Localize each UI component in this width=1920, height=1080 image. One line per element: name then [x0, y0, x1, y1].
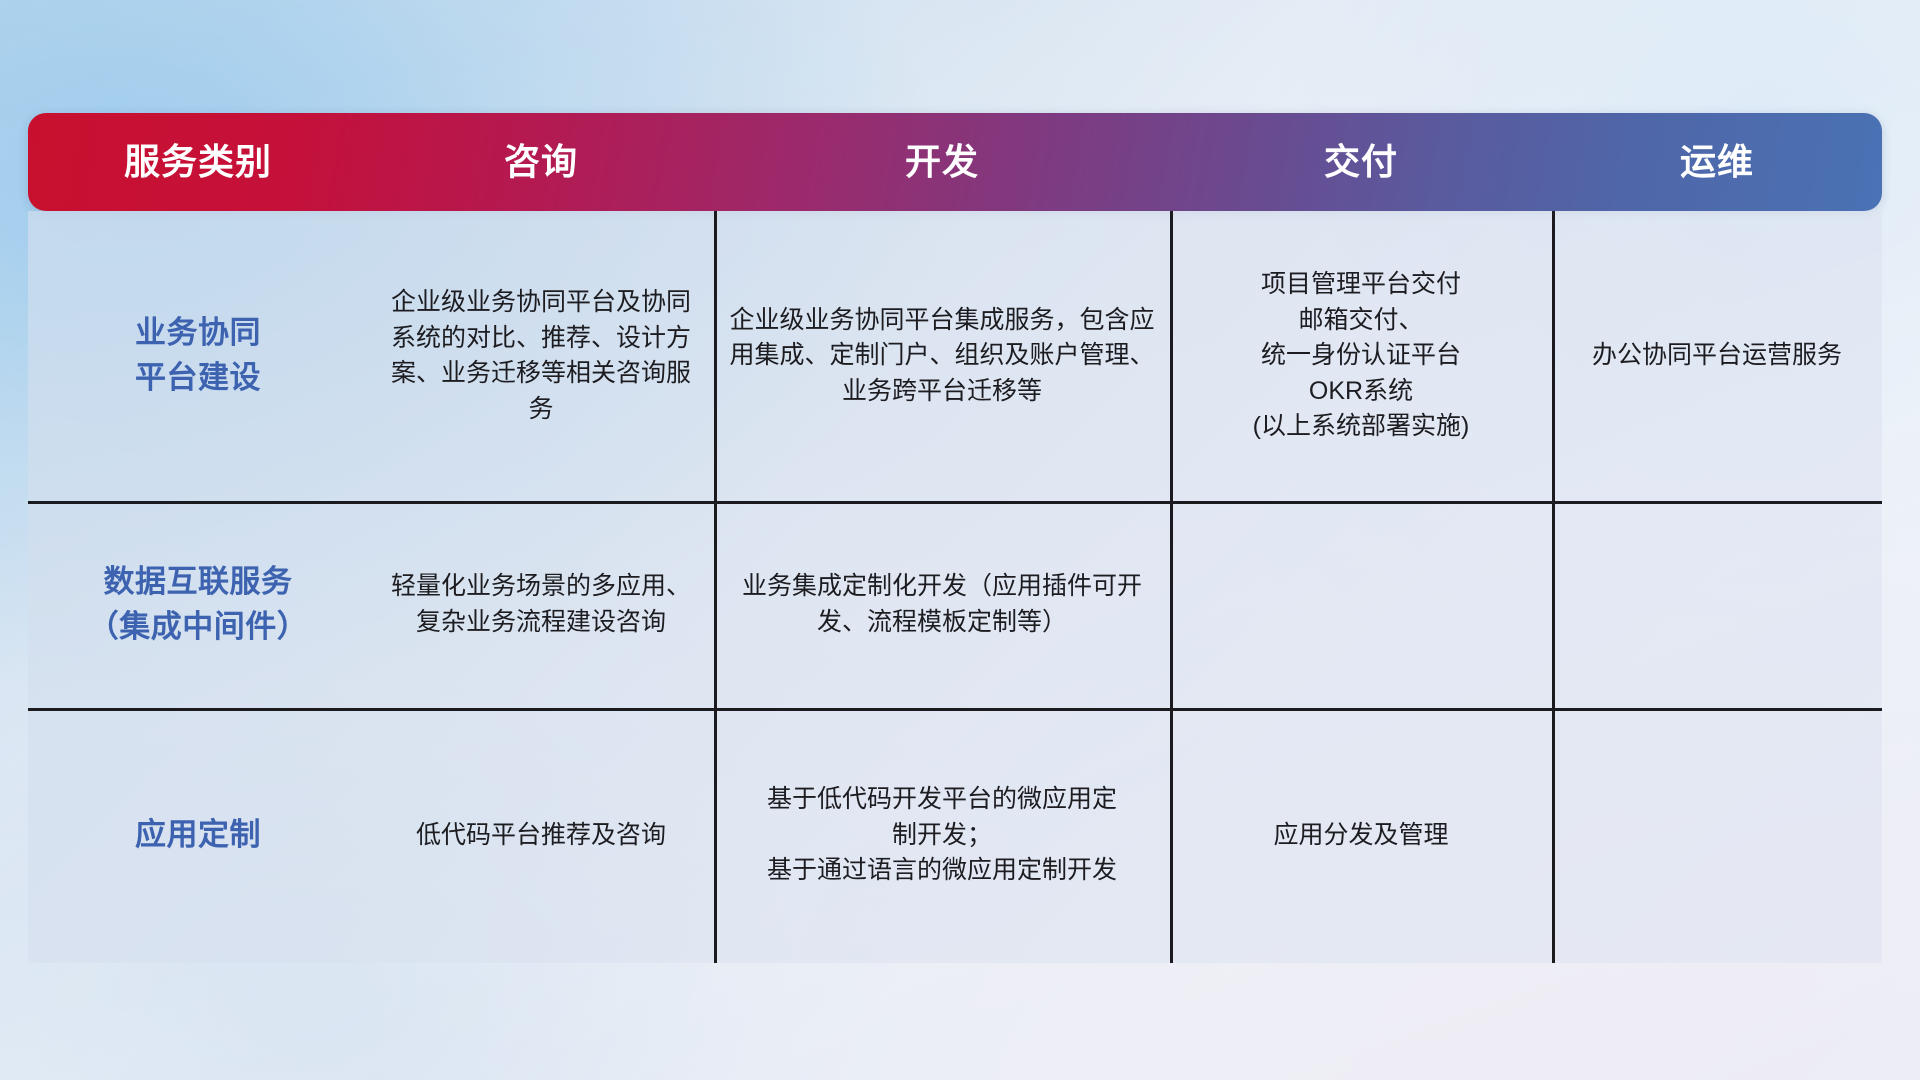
table-body: 业务协同 平台建设 企业级业务协同平台及协同系统的对比、推荐、设计方案、业务迁移…	[28, 211, 1882, 963]
row-category-label: 业务协同 平台建设	[28, 311, 368, 401]
cell-development: 基于低代码开发平台的微应用定 制开发； 基于通过语言的微应用定制开发	[714, 782, 1170, 889]
table-header-row: 服务类别 咨询 开发 交付 运维	[28, 113, 1882, 211]
cell-consulting: 低代码平台推荐及咨询	[368, 818, 714, 854]
cell-consulting: 轻量化业务场景的多应用、复杂业务流程建设咨询	[368, 569, 714, 640]
category-line: 应用定制	[42, 813, 354, 858]
delivery-line: 统一身份认证平台	[1184, 338, 1538, 374]
development-line: 制开发；	[728, 818, 1156, 854]
column-header-consulting: 咨询	[368, 144, 714, 180]
development-line: 基于通过语言的微应用定制开发	[728, 853, 1156, 889]
table-row: 应用定制 低代码平台推荐及咨询 基于低代码开发平台的微应用定 制开发； 基于通过…	[28, 708, 1882, 963]
category-line: 业务协同	[42, 311, 354, 356]
table-row: 数据互联服务 （集成中间件） 轻量化业务场景的多应用、复杂业务流程建设咨询 业务…	[28, 501, 1882, 708]
column-header-operations: 运维	[1552, 144, 1882, 180]
cell-consulting: 企业级业务协同平台及协同系统的对比、推荐、设计方案、业务迁移等相关咨询服务	[368, 285, 714, 427]
column-header-delivery: 交付	[1170, 144, 1552, 180]
cell-delivery: 项目管理平台交付 邮箱交付、 统一身份认证平台 OKR系统 (以上系统部署实施)	[1170, 267, 1552, 445]
slide-canvas: 服务类别 咨询 开发 交付 运维 业务协同 平台建设 企业级业务协同平台及协同系…	[0, 0, 1920, 1080]
column-header-development: 开发	[714, 144, 1170, 180]
delivery-line: OKR系统	[1184, 374, 1538, 410]
row-category-label: 应用定制	[28, 813, 368, 858]
delivery-line: 邮箱交付、	[1184, 303, 1538, 339]
category-line: （集成中间件）	[42, 605, 354, 650]
category-line: 数据互联服务	[42, 560, 354, 605]
table-row: 业务协同 平台建设 企业级业务协同平台及协同系统的对比、推荐、设计方案、业务迁移…	[28, 211, 1882, 501]
category-line: 平台建设	[42, 356, 354, 401]
cell-operations: 办公协同平台运营服务	[1552, 338, 1882, 374]
cell-delivery: 应用分发及管理	[1170, 818, 1552, 854]
column-header-service-category: 服务类别	[28, 144, 368, 180]
delivery-line: (以上系统部署实施)	[1184, 409, 1538, 445]
row-category-label: 数据互联服务 （集成中间件）	[28, 560, 368, 650]
service-matrix-table: 服务类别 咨询 开发 交付 运维 业务协同 平台建设 企业级业务协同平台及协同系…	[28, 113, 1882, 963]
cell-development: 业务集成定制化开发（应用插件可开发、流程模板定制等）	[714, 569, 1170, 640]
cell-development: 企业级业务协同平台集成服务，包含应用集成、定制门户、组织及账户管理、业务跨平台迁…	[714, 303, 1170, 410]
delivery-line: 项目管理平台交付	[1184, 267, 1538, 303]
development-line: 基于低代码开发平台的微应用定	[728, 782, 1156, 818]
